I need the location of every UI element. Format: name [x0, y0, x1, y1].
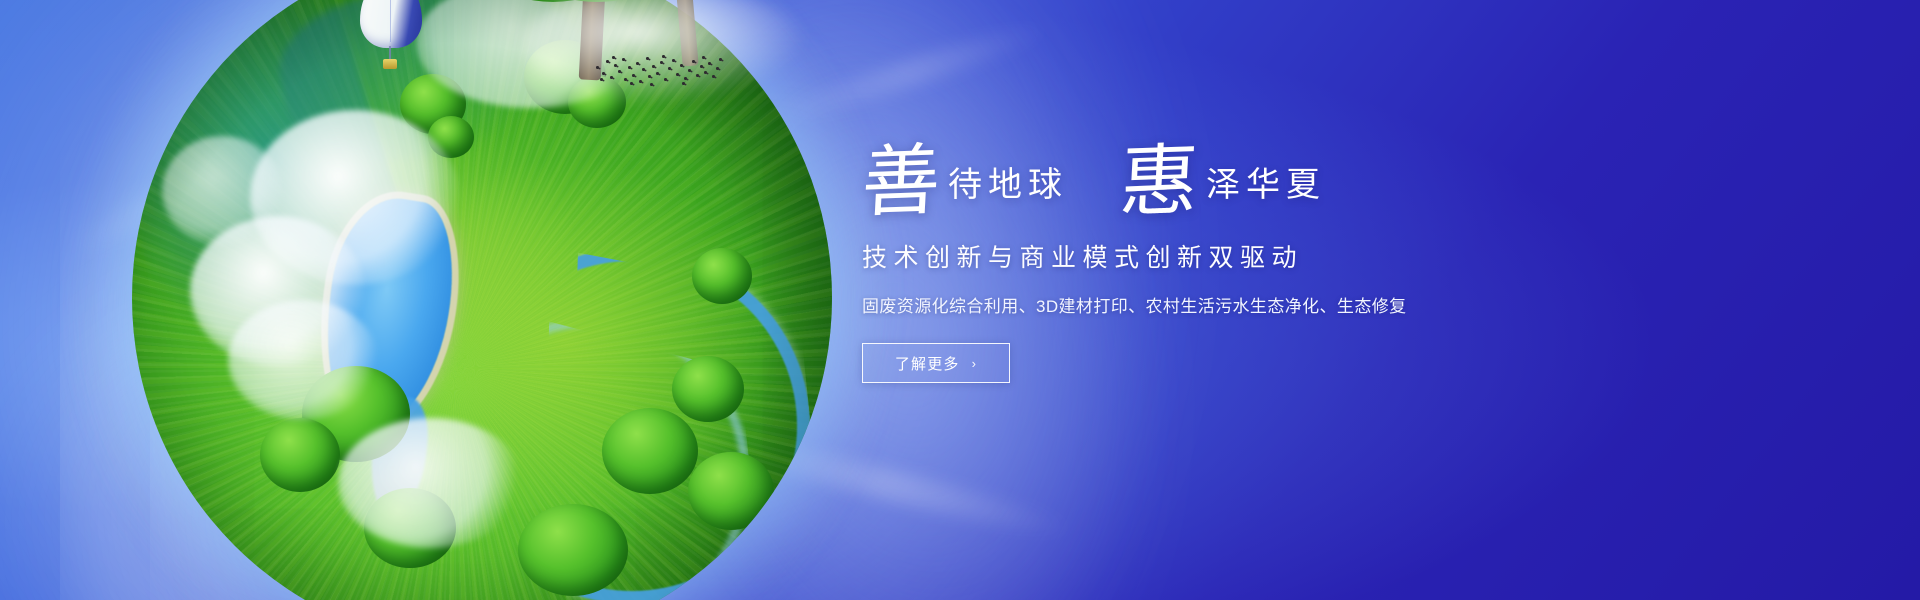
bird-icon: [618, 70, 621, 73]
bird-icon: [676, 73, 679, 76]
page-title: 善 待地球 惠 泽华夏: [862, 120, 1622, 216]
bird-icon: [716, 67, 719, 70]
bird-icon: [622, 58, 625, 61]
headline-rest-2: 泽华夏: [1206, 157, 1326, 216]
bird-icon: [628, 66, 631, 69]
bird-icon: [624, 78, 627, 81]
bird-icon: [662, 55, 665, 58]
bird-icon: [684, 77, 687, 80]
bird-flock-icon: [592, 52, 722, 92]
bird-icon: [632, 74, 635, 77]
bird-icon: [650, 83, 653, 86]
globe-shading: [132, 0, 832, 600]
hot-air-balloon-icon: [360, 0, 422, 72]
bird-icon: [646, 57, 649, 60]
bird-icon: [712, 75, 715, 78]
bird-icon: [600, 78, 603, 81]
bird-icon: [682, 82, 685, 85]
bird-icon: [702, 56, 705, 59]
bird-icon: [606, 60, 609, 63]
chevron-right-icon: ›: [972, 356, 978, 371]
learn-more-button[interactable]: 了解更多 ›: [862, 343, 1010, 383]
banner-description: 固废资源化综合利用、3D建材打印、农村生活污水生态净化、生态修复: [862, 292, 1622, 317]
bird-icon: [648, 75, 651, 78]
bird-icon: [639, 80, 642, 83]
bird-icon: [656, 72, 659, 75]
bird-icon: [708, 62, 711, 65]
bird-icon: [610, 76, 613, 79]
bird-icon: [614, 64, 617, 67]
balloon-basket: [383, 59, 397, 69]
bird-icon: [696, 74, 699, 77]
earth-globe-illustration: [132, 0, 832, 600]
bird-icon: [700, 65, 703, 68]
bird-icon: [672, 59, 675, 62]
headline-brush-char-2: 惠: [1118, 148, 1200, 218]
bird-icon: [652, 65, 655, 68]
bird-icon: [596, 66, 599, 69]
headline-rest-1: 待地球: [948, 157, 1068, 216]
banner-copy: 善 待地球 惠 泽华夏 技术创新与商业模式创新双驱动 固废资源化综合利用、3D建…: [862, 120, 1622, 383]
bird-icon: [602, 72, 605, 75]
hero-banner: 善 待地球 惠 泽华夏 技术创新与商业模式创新双驱动 固废资源化综合利用、3D建…: [0, 0, 1920, 600]
balloon-envelope: [360, 0, 422, 48]
headline-brush-char-1: 善: [860, 148, 942, 218]
bird-icon: [680, 64, 683, 67]
globe-sphere: [132, 0, 832, 600]
bird-icon: [642, 68, 645, 71]
bird-icon: [612, 56, 615, 59]
bird-icon: [692, 60, 695, 63]
learn-more-label: 了解更多: [895, 353, 960, 374]
bird-icon: [660, 61, 663, 64]
banner-subtitle: 技术创新与商业模式创新双驱动: [862, 238, 1622, 274]
bird-icon: [688, 69, 691, 72]
bird-icon: [636, 62, 639, 65]
bird-icon: [668, 67, 671, 70]
balloon-seam: [390, 0, 391, 42]
balloon-rope: [389, 46, 391, 60]
bird-icon: [664, 78, 667, 81]
bird-icon: [704, 71, 707, 74]
bird-icon: [719, 58, 722, 61]
bird-icon: [630, 82, 633, 85]
